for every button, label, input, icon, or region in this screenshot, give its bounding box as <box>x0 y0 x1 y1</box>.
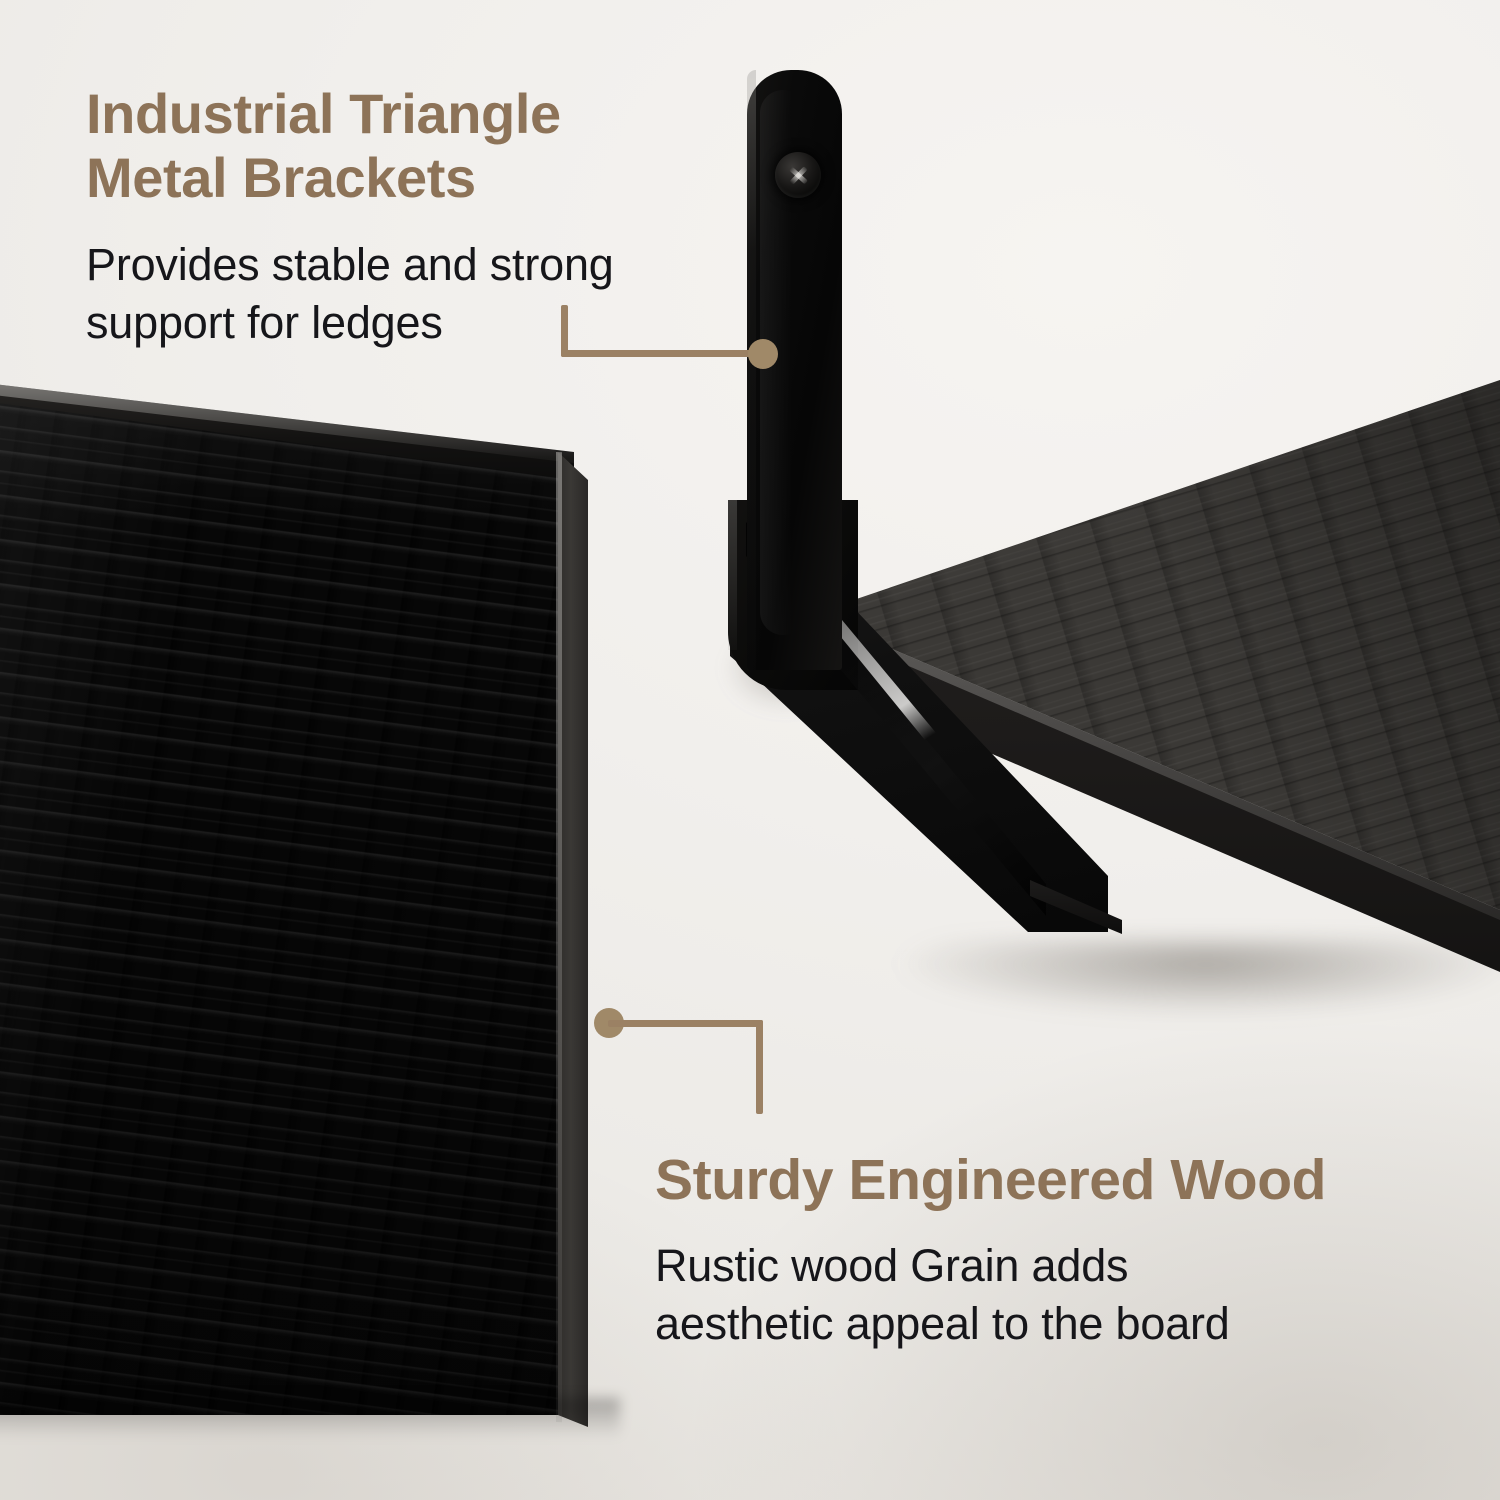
wood-board-left <box>0 380 640 1460</box>
bracket-corner-highlight <box>728 500 737 650</box>
callout-heading: Sturdy Engineered Wood <box>655 1148 1465 1213</box>
callout-body-line-2: aesthetic appeal to the board <box>655 1298 1230 1349</box>
board-face-shading <box>0 380 605 1420</box>
phillips-screw-icon <box>775 152 821 198</box>
callout-body: Rustic wood Grain addsaesthetic appeal t… <box>655 1237 1465 1354</box>
callout-sturdy-engineered-wood: Sturdy Engineered Wood Rustic wood Grain… <box>655 1148 1465 1354</box>
board-bottom-shadow <box>0 1398 620 1438</box>
callout-body: Provides stable and strongsupport for le… <box>86 236 746 353</box>
infographic-canvas: Industrial TriangleMetal Brackets Provid… <box>0 0 1500 1500</box>
callout-heading-line-2: Metal Brackets <box>86 146 476 209</box>
callout-body-line-2: support for ledges <box>86 297 443 348</box>
board-side-edge-band <box>558 452 592 1427</box>
metal-bracket <box>700 60 1120 960</box>
callout-industrial-triangle-metal-brackets: Industrial TriangleMetal Brackets Provid… <box>86 82 746 353</box>
board-side-edge-highlight <box>556 452 562 1422</box>
callout-body-line-1: Provides stable and strong <box>86 239 614 290</box>
callout-heading-line-1: Industrial Triangle <box>86 82 561 145</box>
callout-body-line-1: Rustic wood Grain adds <box>655 1240 1128 1291</box>
bracket-arm-edge-highlight <box>747 70 756 670</box>
callout-heading: Industrial TriangleMetal Brackets <box>86 82 746 210</box>
board-grain-face <box>0 380 605 1420</box>
